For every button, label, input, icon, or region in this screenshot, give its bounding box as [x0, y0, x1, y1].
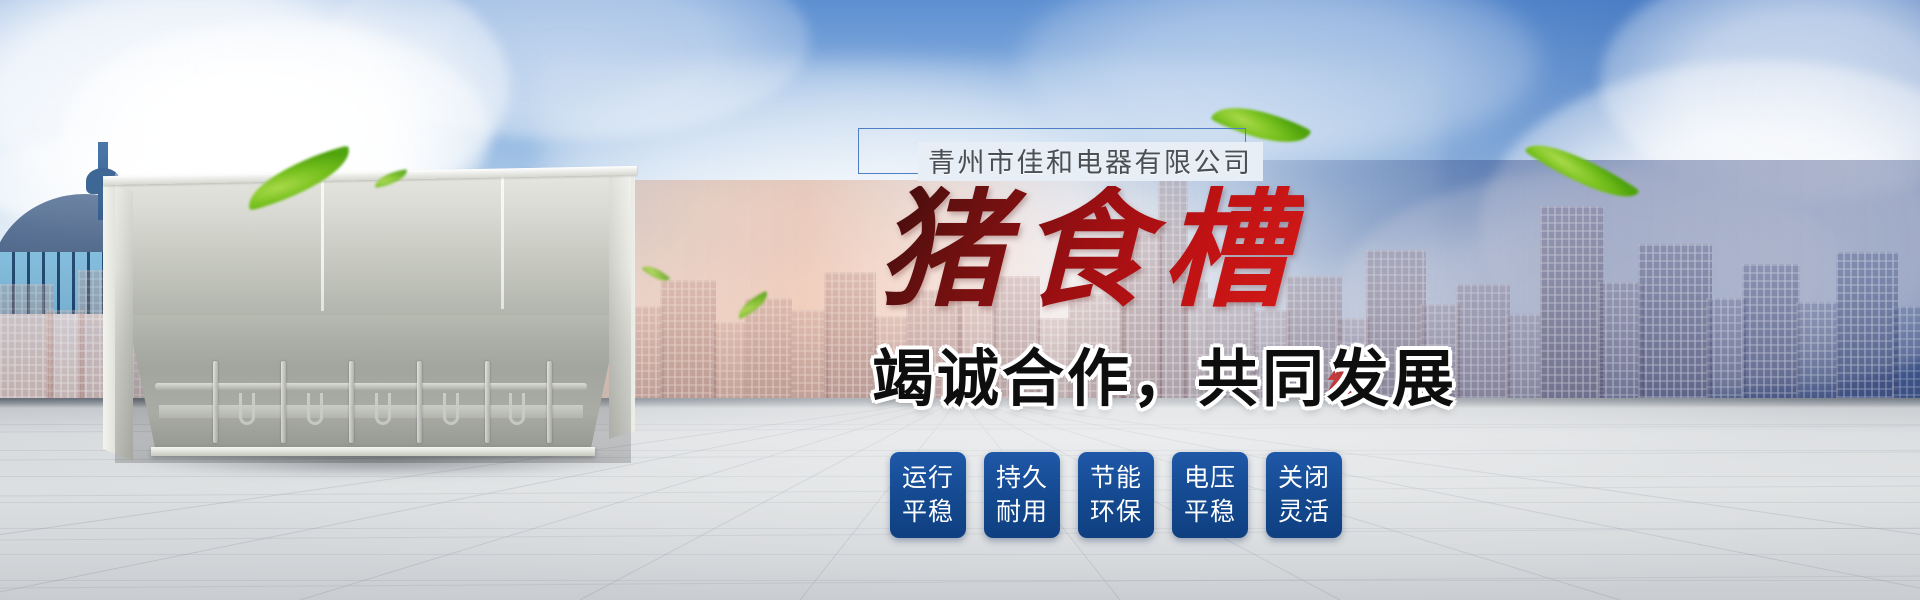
building-windows [1456, 284, 1510, 402]
feature-badge-3[interactable]: 节能环保 [1078, 452, 1154, 538]
feature-badge-line1: 运行 [902, 461, 954, 495]
skyline-building [1836, 252, 1898, 402]
feature-badge-5[interactable]: 关闭灵活 [1266, 452, 1342, 538]
feature-badge-line1: 电压 [1184, 461, 1236, 495]
trough-divider [417, 361, 422, 443]
skyline-building [1540, 206, 1604, 402]
building-windows [790, 310, 828, 402]
skyline-building [824, 272, 876, 402]
product-image-pig-feeding-trough [85, 165, 660, 470]
slogan-subtitle: 竭诚合作，共同发展 [872, 348, 1457, 410]
trough-divider [213, 361, 218, 443]
building-windows [744, 298, 792, 402]
building-windows [1506, 314, 1542, 402]
promo-banner: 青州市佳和电器有限公司 猪食槽 竭诚合作，共同发展 运行平稳持久耐用节能环保电压… [0, 0, 1920, 600]
trough-seam [501, 177, 504, 309]
feature-badge-list: 运行平稳持久耐用节能环保电压平稳关闭灵活 [890, 452, 1342, 538]
skyline-building [1742, 264, 1800, 402]
feature-badge-line2: 环保 [1090, 495, 1142, 529]
feature-badge-line2: 平稳 [1184, 495, 1236, 529]
feature-badge-line2: 灵活 [1278, 495, 1330, 529]
trough-feed-loop [509, 393, 525, 425]
trough-feed-loop [375, 393, 391, 425]
building-windows [1796, 302, 1840, 402]
building-windows [660, 280, 716, 402]
trough-bottom-edge [151, 447, 595, 456]
trough-seam [321, 179, 324, 311]
trough-right-wall [609, 169, 635, 439]
building-windows [824, 272, 876, 402]
skyline-building [744, 298, 792, 402]
skyline-building [790, 310, 828, 402]
trough-divider [281, 361, 286, 443]
building-windows [1742, 264, 1800, 402]
building-windows [1836, 252, 1898, 402]
building-windows [1540, 206, 1604, 402]
skyline-building [1892, 306, 1920, 402]
feature-badge-line1: 持久 [996, 461, 1048, 495]
skyline-building [1706, 298, 1746, 402]
trough-lower-rail [155, 383, 587, 390]
skyline-building [1456, 284, 1510, 402]
building-windows [1892, 306, 1920, 402]
trough-divider [349, 361, 354, 443]
feature-badge-line2: 平稳 [902, 495, 954, 529]
skyline-building [1638, 244, 1712, 402]
trough-divider [485, 361, 490, 443]
feature-badge-line2: 耐用 [996, 495, 1048, 529]
feature-badge-1[interactable]: 运行平稳 [890, 452, 966, 538]
feature-badge-line1: 关闭 [1278, 461, 1330, 495]
building-windows [1706, 298, 1746, 402]
skyline-building [1506, 314, 1542, 402]
trough-back-panel [115, 173, 631, 323]
trough-left-wall [103, 179, 133, 461]
trough-divider [547, 361, 552, 443]
trough-feed-loop [239, 393, 255, 425]
feature-badge-2[interactable]: 持久耐用 [984, 452, 1060, 538]
building-windows [712, 322, 746, 402]
skyline-building [712, 322, 746, 402]
building-windows [1638, 244, 1712, 402]
feature-badge-line1: 节能 [1090, 461, 1142, 495]
skyline-building [1796, 302, 1840, 402]
feature-badge-4[interactable]: 电压平稳 [1172, 452, 1248, 538]
main-title: 猪食槽 [878, 186, 1304, 314]
skyline-building [660, 280, 716, 402]
trough-feed-loop [443, 393, 459, 425]
trough-feed-loop [307, 393, 323, 425]
